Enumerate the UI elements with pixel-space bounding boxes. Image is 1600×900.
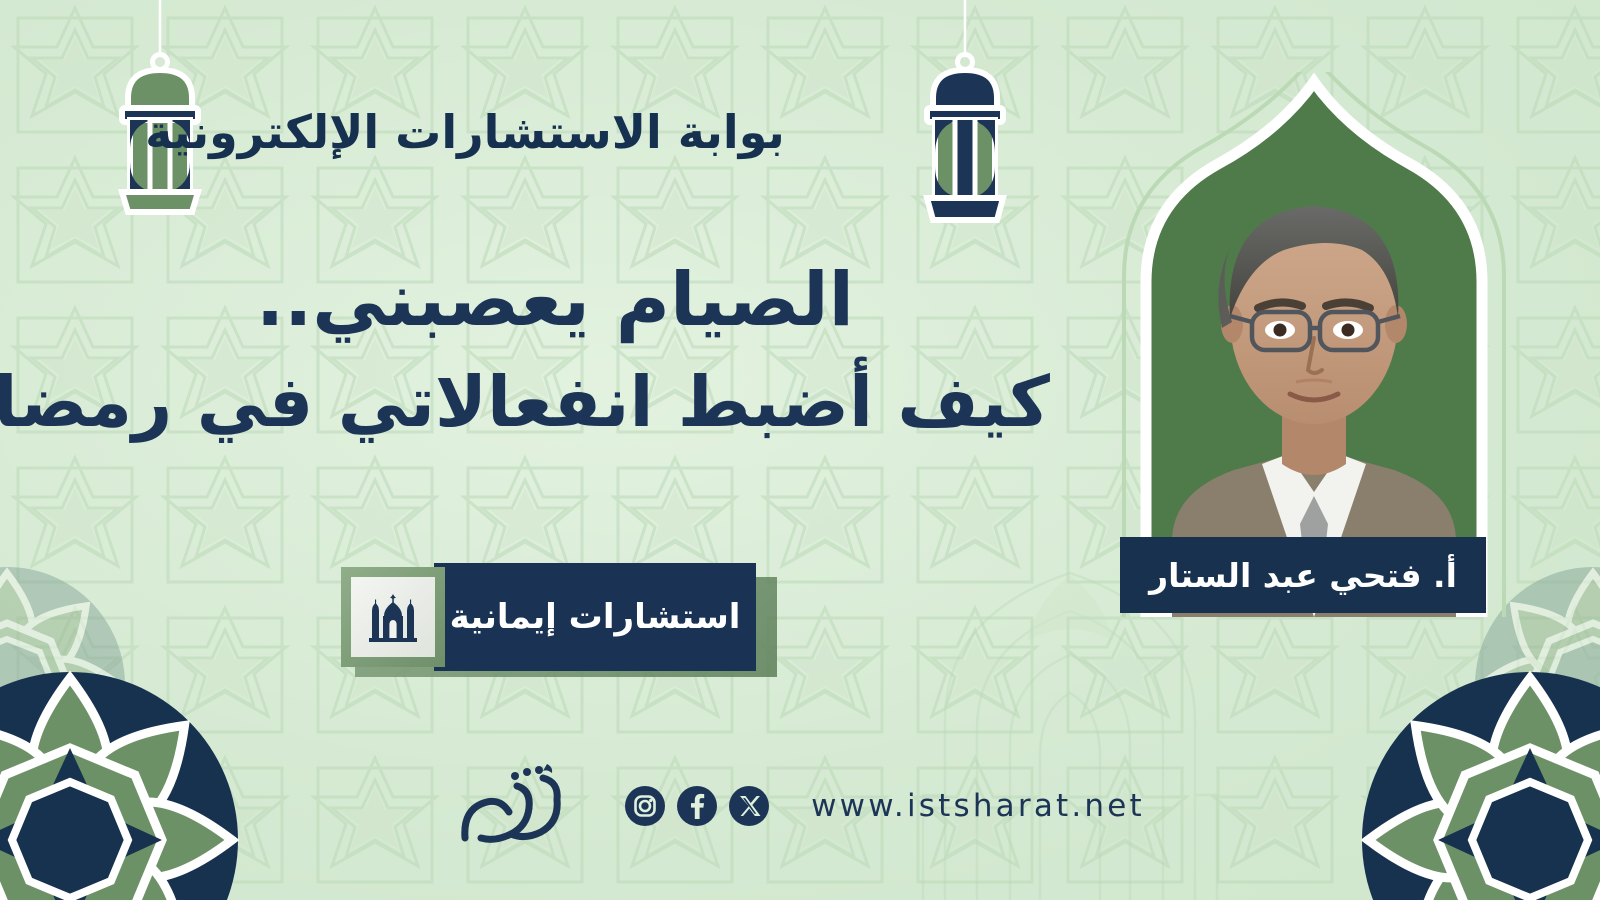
category-banner-plate: استشارات إيمانية [434,563,756,671]
poster-canvas: بوابة الاستشارات الإلكترونية الصيام يعصب… [0,0,1600,900]
instagram-icon[interactable] [625,786,665,826]
almujtama-logo-icon [455,760,585,852]
facebook-icon[interactable] [677,786,717,826]
category-icon-card [351,577,435,657]
brand-calligraphy: بوابة الاستشارات الإلكترونية [195,62,735,202]
speaker-nameplate: أ. فتحي عبد الستار [1120,537,1486,613]
headline-line-1: الصيام يعصبني.. [60,255,1050,345]
category-banner-label: استشارات إيمانية [434,563,756,671]
social-links[interactable] [625,786,769,826]
speaker-name: أ. فتحي عبد الستار [1149,556,1457,595]
footer-bar: www.istsharat.net [0,752,1600,860]
headline-line-2: كيف أضبط انفعالاتي في رمضان؟ [60,359,1050,446]
speaker-portrait [1112,72,1516,617]
lantern-right-icon [905,0,1025,230]
headline-block: الصيام يعصبني.. كيف أضبط انفعالاتي في رم… [60,255,1050,446]
x-icon[interactable] [729,786,769,826]
portrait-arch-frame [1112,72,1516,617]
mosque-icon [363,590,423,644]
website-url[interactable]: www.istsharat.net [811,788,1145,824]
category-icon-frame [341,567,445,667]
category-banner[interactable]: استشارات إيمانية [341,563,781,679]
